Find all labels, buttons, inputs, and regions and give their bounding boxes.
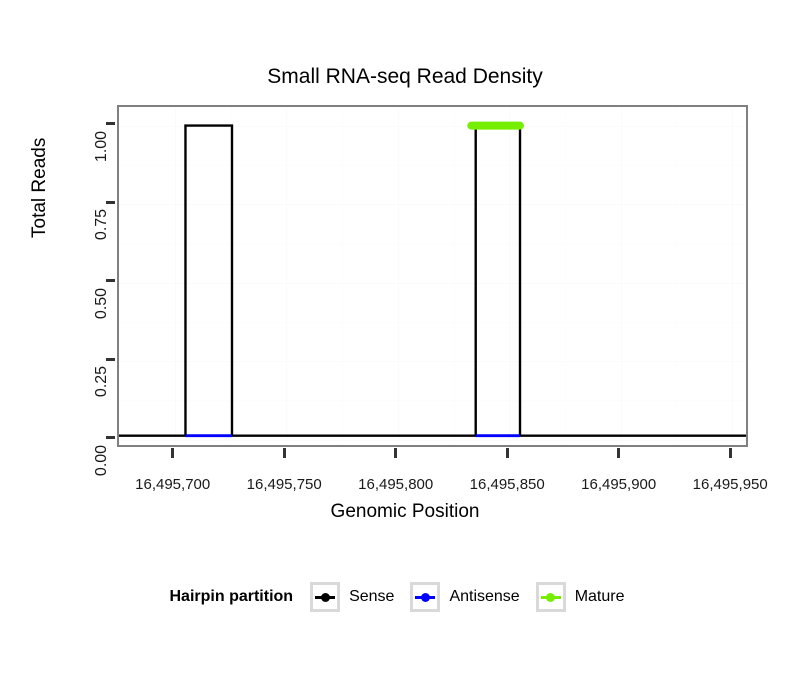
legend-item-sense[interactable]: Sense	[310, 582, 394, 612]
x-tick-label: 16,495,900	[581, 476, 656, 494]
x-tick-label: 16,495,750	[247, 476, 322, 494]
x-tick-label: 16,495,850	[470, 476, 545, 494]
x-tick-mark	[506, 448, 509, 458]
chart-figure: Small RNA-seq Read Density Total Reads 0…	[0, 0, 810, 690]
x-tick-mark	[283, 448, 286, 458]
legend-item-antisense[interactable]: Antisense	[410, 582, 519, 612]
series-line-sense	[119, 126, 746, 436]
x-axis-title: Genomic Position	[0, 500, 810, 524]
legend-items: SenseAntisenseMature	[310, 582, 640, 612]
legend-key-dot	[321, 593, 330, 602]
legend-key-swatch	[310, 582, 340, 612]
legend-item-label: Antisense	[449, 588, 519, 606]
legend-key-swatch	[536, 582, 566, 612]
x-tick-label: 16,495,950	[693, 476, 768, 494]
data-layer	[119, 107, 746, 445]
y-tick-label: 0.50	[94, 281, 110, 326]
x-tick-label: 16,495,700	[135, 476, 210, 494]
x-tick-mark	[394, 448, 397, 458]
chart-title: Small RNA-seq Read Density	[0, 64, 810, 90]
data-series-svg	[119, 107, 746, 445]
x-tick-label: 16,495,800	[358, 476, 433, 494]
legend-item-label: Sense	[349, 588, 394, 606]
legend-key-dot	[546, 593, 555, 602]
legend-key-swatch	[410, 582, 440, 612]
legend-item-label: Mature	[575, 588, 625, 606]
y-tick-label: 0.25	[94, 359, 110, 404]
y-tick-label: 0.75	[94, 202, 110, 247]
x-tick-mark	[729, 448, 732, 458]
plot-panel	[117, 105, 748, 447]
legend-title: Hairpin partition	[170, 588, 294, 606]
y-axis-title: Total Reads	[28, 214, 52, 238]
x-tick-mark	[171, 448, 174, 458]
x-tick-mark	[617, 448, 620, 458]
y-tick-label: 1.00	[94, 124, 110, 169]
legend-key-dot	[421, 593, 430, 602]
legend-item-mature[interactable]: Mature	[536, 582, 625, 612]
y-tick-label: 0.00	[94, 438, 110, 483]
chart-legend: Hairpin partition SenseAntisenseMature	[0, 582, 810, 612]
